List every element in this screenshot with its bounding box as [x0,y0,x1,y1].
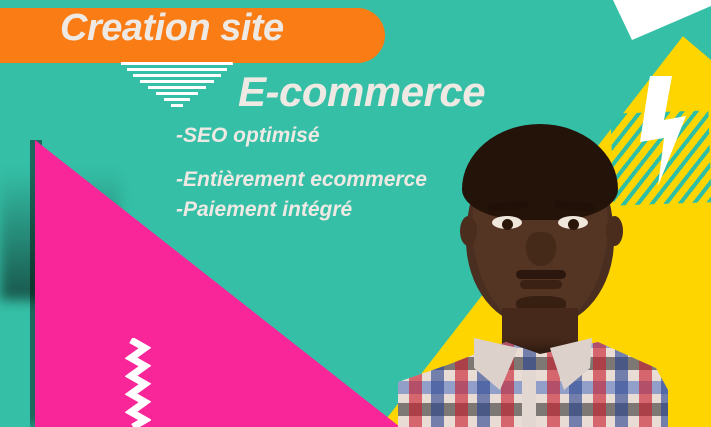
promo-banner: Creation site E-commerce -SEO optimisé -… [0,0,711,427]
list-item: -SEO optimisé [176,124,427,148]
list-item: -Entièrement ecommerce [176,168,427,192]
pupil-right [568,219,579,230]
zigzag-lightning-icon [125,338,151,427]
yellow-right-edge [675,317,711,427]
badge-label: Creation site [60,5,390,51]
page-title: E-commerce [238,68,485,116]
moustache-shape [516,270,566,279]
list-item: -Paiement intégré [176,198,427,222]
funnel-lines-decoration [118,62,236,110]
ear-left [460,216,477,246]
shirt-placket [522,370,536,427]
pupil-left [502,219,513,230]
feature-list: -SEO optimisé -Entièrement ecommerce -Pa… [176,124,427,242]
nose-shape [526,232,556,266]
ear-right [606,216,623,246]
portrait-photo-of-man-in-plaid-shirt [398,120,668,427]
hair-shape [462,124,618,220]
mouth-shape [520,280,562,289]
